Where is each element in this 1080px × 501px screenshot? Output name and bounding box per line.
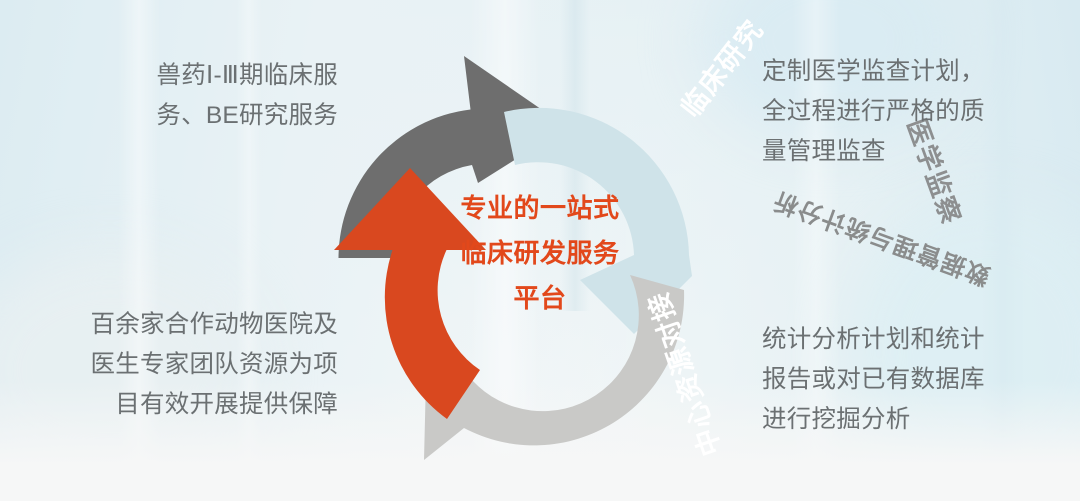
description-line: 百余家合作动物医院及 — [18, 305, 338, 345]
description-line: 统计分析计划和统计 — [762, 320, 1062, 360]
description-line: 目有效开展提供保障 — [18, 385, 338, 425]
infographic-canvas: 临床研究 医学监察 数据管理与统计分析 中心资源对接 专业的一站式 临床研发服务… — [0, 0, 1080, 501]
description-line: 全过程进行严格的质 — [762, 92, 1062, 132]
description-line: 量管理监查 — [762, 132, 1062, 172]
description-line: 兽药Ⅰ‑Ⅲ期临床服 — [28, 56, 338, 96]
description-top-left: 兽药Ⅰ‑Ⅲ期临床服 务、BE研究服务 — [28, 56, 338, 136]
center-headline-line-1: 专业的一站式 — [440, 186, 640, 231]
center-headline-line-3: 平台 — [440, 276, 640, 321]
description-line: 务、BE研究服务 — [28, 96, 338, 136]
description-line: 报告或对已有数据库 — [762, 360, 1062, 400]
center-headline-line-2: 临床研发服务 — [440, 231, 640, 276]
description-line: 进行挖掘分析 — [762, 400, 1062, 440]
description-bottom-right: 统计分析计划和统计 报告或对已有数据库 进行挖掘分析 — [762, 320, 1062, 440]
description-top-right: 定制医学监查计划， 全过程进行严格的质 量管理监查 — [762, 52, 1062, 172]
description-line: 医生专家团队资源为项 — [18, 345, 338, 385]
description-line: 定制医学监查计划， — [762, 52, 1062, 92]
center-headline: 专业的一站式 临床研发服务 平台 — [440, 186, 640, 321]
description-bottom-left: 百余家合作动物医院及 医生专家团队资源为项 目有效开展提供保障 — [18, 305, 338, 425]
